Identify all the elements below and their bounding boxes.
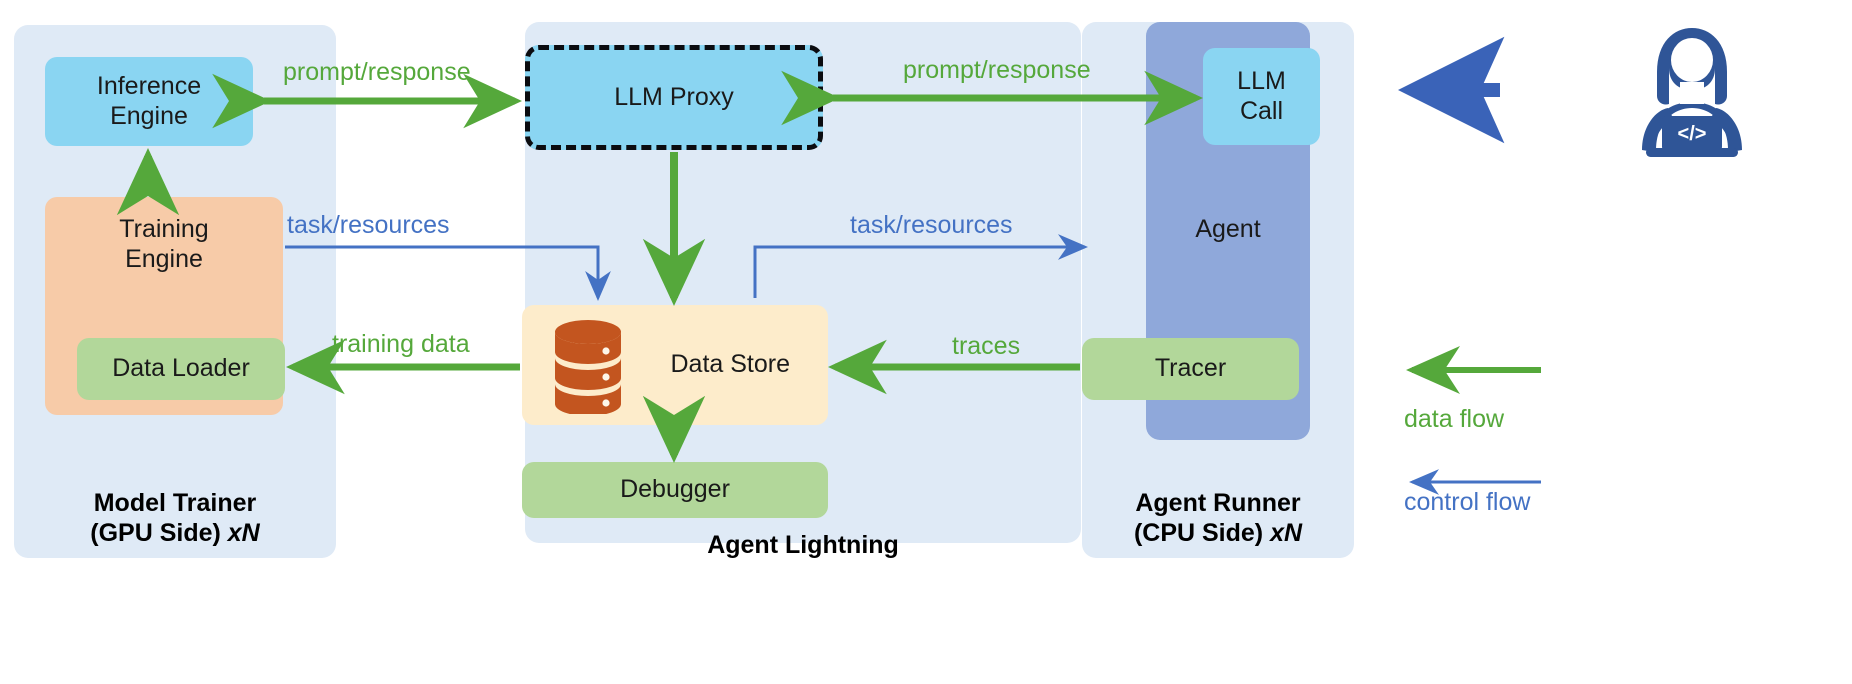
node-llm-call[interactable]: LLM Call xyxy=(1203,48,1320,145)
node-llm-proxy[interactable]: LLM Proxy xyxy=(525,45,823,150)
edge-label-training-data: training data xyxy=(332,330,470,359)
edge-label-traces: traces xyxy=(952,332,1020,361)
database-icon xyxy=(548,318,628,414)
inference-engine-line1: Inference xyxy=(97,72,201,100)
node-inference-engine[interactable]: Inference Engine xyxy=(45,57,253,146)
node-agent-label-wrap: Agent xyxy=(1146,205,1310,255)
edge-label-task-resources-left: task/resources xyxy=(287,211,450,240)
panel-label-agent-lightning: Agent Lightning xyxy=(525,530,1081,560)
developer-laptop-icon: </> xyxy=(1622,24,1762,158)
node-data-store-label: Data Store xyxy=(670,350,790,380)
model-trainer-multiplier: xN xyxy=(228,519,260,547)
llm-call-line2: Call xyxy=(1240,97,1283,125)
panel-label-agent-runner: Agent Runner (CPU Side) xN xyxy=(1082,488,1354,548)
node-inference-engine-label: Inference Engine xyxy=(97,72,201,131)
training-engine-line1: Training xyxy=(119,215,208,243)
agent-runner-line1: Agent Runner xyxy=(1135,489,1300,517)
node-llm-call-label: LLM Call xyxy=(1237,67,1286,126)
edge-label-task-resources-right: task/resources xyxy=(850,211,1013,240)
agent-runner-line2: (CPU Side) xyxy=(1134,519,1263,547)
agent-runner-multiplier: xN xyxy=(1270,519,1302,547)
node-debugger[interactable]: Debugger xyxy=(522,462,828,518)
node-data-loader-label: Data Loader xyxy=(112,354,250,384)
node-training-engine-label: Training Engine xyxy=(119,215,208,274)
code-glyph: </> xyxy=(1678,123,1707,145)
node-debugger-label: Debugger xyxy=(620,475,730,505)
inference-engine-line2: Engine xyxy=(110,102,188,130)
edge-label-prompt-response-left: prompt/response xyxy=(283,58,471,87)
agent-lightning-line1: Agent Lightning xyxy=(707,531,899,559)
node-agent-label: Agent xyxy=(1195,215,1260,245)
node-llm-proxy-label: LLM Proxy xyxy=(614,83,733,113)
model-trainer-line2: (GPU Side) xyxy=(90,519,221,547)
panel-label-model-trainer: Model Trainer (GPU Side) xN xyxy=(14,488,336,548)
legend-label-data-flow: data flow xyxy=(1404,405,1504,434)
legend-label-control-flow: control flow xyxy=(1404,488,1530,517)
architecture-diagram: Inference Engine Training Engine Data Lo… xyxy=(0,0,1852,684)
edge-label-prompt-response-right: prompt/response xyxy=(903,56,1091,85)
llm-call-line1: LLM xyxy=(1237,67,1286,95)
node-tracer-label: Tracer xyxy=(1155,354,1226,384)
node-tracer[interactable]: Tracer xyxy=(1082,338,1299,400)
node-data-loader[interactable]: Data Loader xyxy=(77,338,285,400)
training-engine-line2: Engine xyxy=(125,245,203,273)
model-trainer-line1: Model Trainer xyxy=(94,489,257,517)
